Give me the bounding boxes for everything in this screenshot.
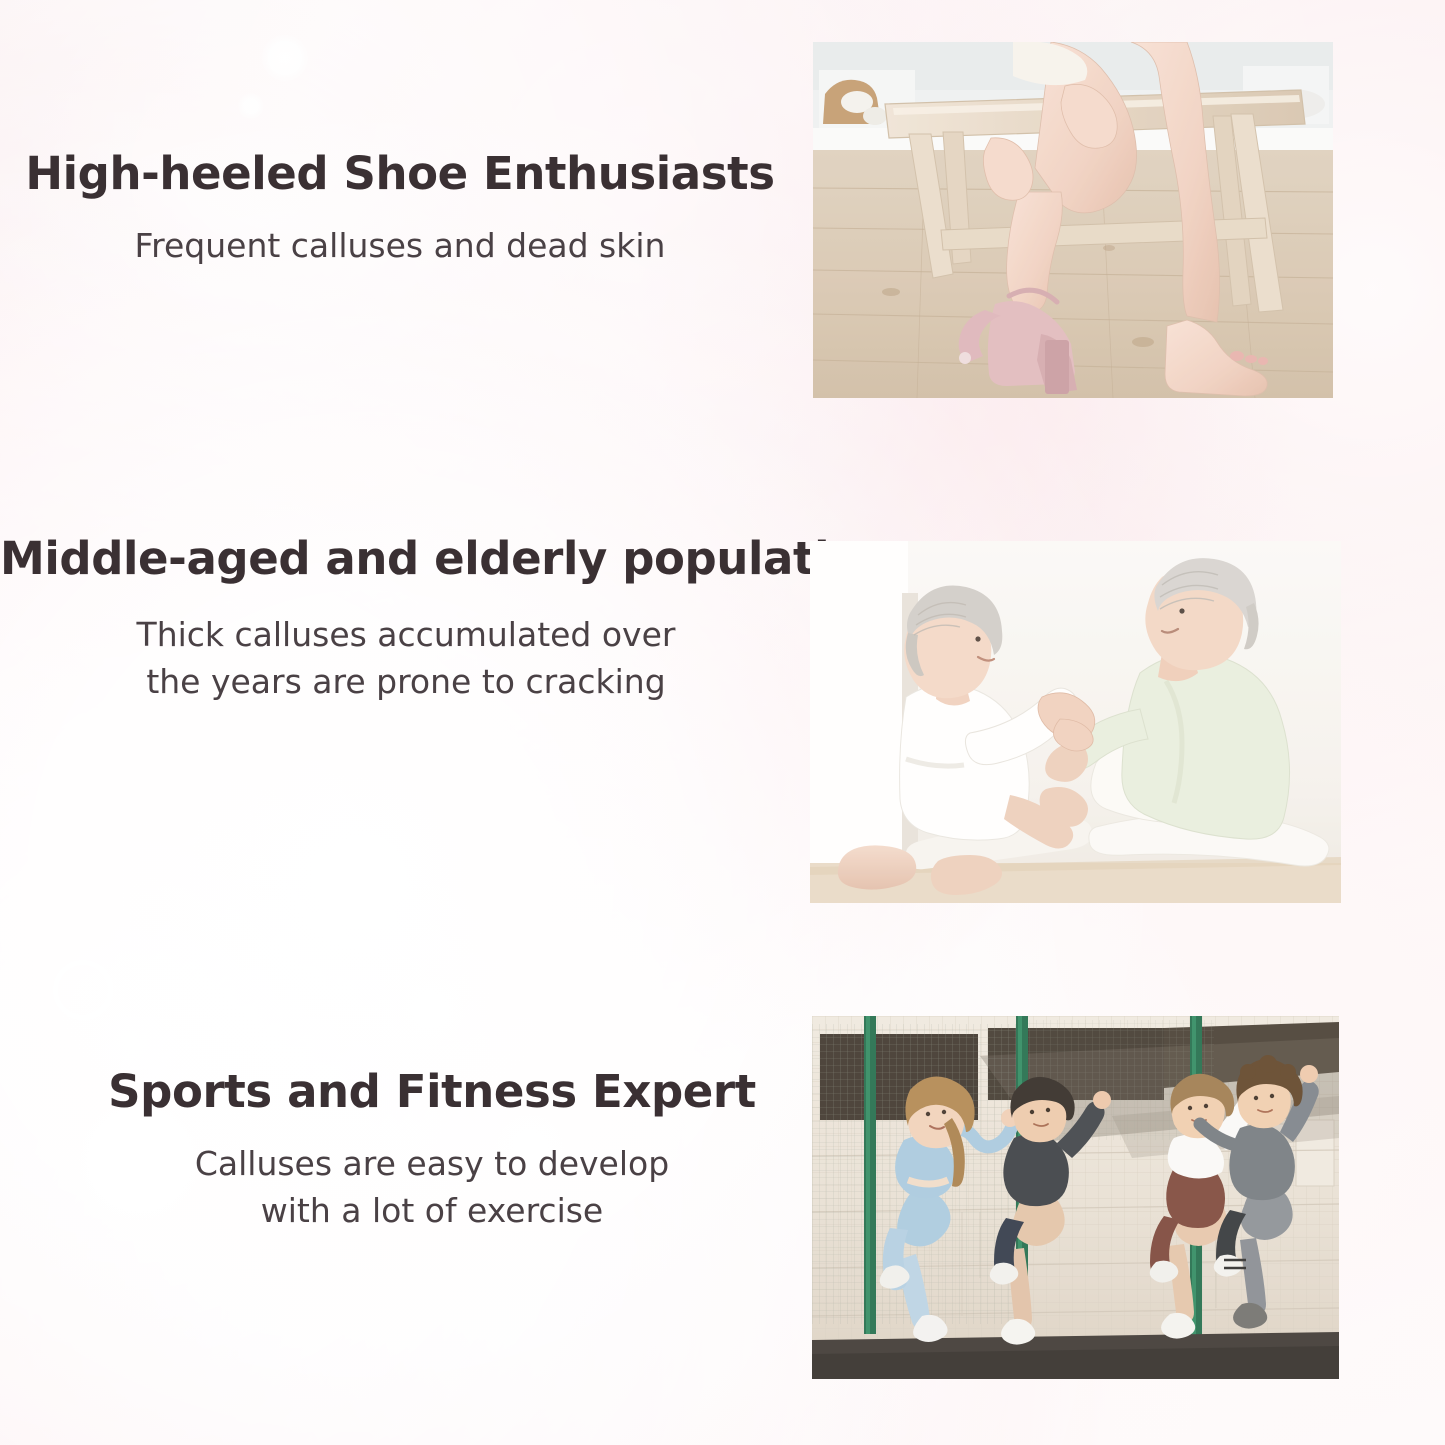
section-heading-fitness: Sports and Fitness Expert (0, 1068, 864, 1115)
photo-elderly-couple-graphic (810, 541, 1341, 903)
bokeh-dot-lower-mid (382, 962, 478, 1058)
subtitle-line: with a lot of exercise (0, 1188, 864, 1235)
photo-fitness-group (812, 1016, 1339, 1379)
bokeh-dot-top-large (261, 34, 309, 82)
photo-high-heeled-shoes (813, 42, 1333, 398)
section-heading-high-heeled: High-heeled Shoe Enthusiasts (0, 150, 800, 197)
subtitle-line: the years are prone to cracking (0, 659, 812, 706)
section-high-heeled-text: High-heeled Shoe Enthusiasts Frequent ca… (0, 150, 800, 270)
subtitle-line: Thick calluses accumulated over (0, 612, 812, 659)
bokeh-dot-mid-glow (303, 814, 427, 938)
bokeh-ring-left (53, 960, 113, 1020)
subtitle-line: Calluses are easy to develop (0, 1141, 864, 1188)
infographic-poster: High-heeled Shoe Enthusiasts Frequent ca… (0, 0, 1445, 1445)
subtitle-line: Frequent calluses and dead skin (0, 223, 800, 270)
section-subtitle-elderly: Thick calluses accumulated over the year… (0, 612, 812, 706)
section-fitness-text: Sports and Fitness Expert Calluses are e… (0, 1068, 864, 1235)
photo-high-heeled-shoes-graphic (813, 42, 1333, 398)
photo-elderly-couple (810, 541, 1341, 903)
section-subtitle-fitness: Calluses are easy to develop with a lot … (0, 1141, 864, 1235)
section-elderly-text: Middle-aged and elderly population Thick… (0, 535, 812, 706)
section-subtitle-high-heeled: Frequent calluses and dead skin (0, 223, 800, 270)
section-heading-elderly: Middle-aged and elderly population (0, 535, 812, 582)
bokeh-dot-top-small (238, 93, 264, 119)
photo-fitness-group-graphic (812, 1016, 1339, 1379)
